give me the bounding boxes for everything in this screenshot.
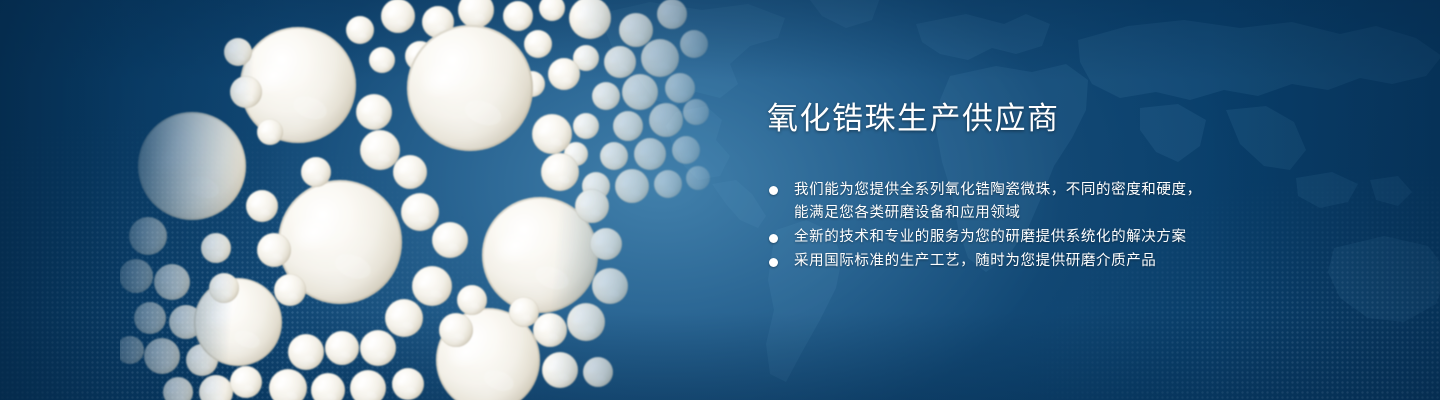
- list-item-line: 我们能为您提供全系列氧化锆陶瓷微珠，不同的密度和硬度，: [794, 179, 1367, 203]
- feature-list: 我们能为您提供全系列氧化锆陶瓷微珠，不同的密度和硬度， 能满足您各类研磨设备和应…: [767, 179, 1367, 274]
- list-item: 采用国际标准的生产工艺，随时为您提供研磨介质产品: [767, 250, 1367, 274]
- banner-copy: 氧化锆珠生产供应商 我们能为您提供全系列氧化锆陶瓷微珠，不同的密度和硬度， 能满…: [767, 100, 1367, 274]
- page-title: 氧化锆珠生产供应商: [767, 100, 1367, 139]
- list-item: 我们能为您提供全系列氧化锆陶瓷微珠，不同的密度和硬度， 能满足您各类研磨设备和应…: [767, 179, 1367, 226]
- list-item: 全新的技术和专业的服务为您的研磨提供系统化的解决方案: [767, 226, 1367, 250]
- list-item-line: 采用国际标准的生产工艺，随时为您提供研磨介质产品: [794, 250, 1367, 274]
- list-item-line: 全新的技术和专业的服务为您的研磨提供系统化的解决方案: [794, 226, 1367, 250]
- list-item-line: 能满足您各类研磨设备和应用领域: [794, 202, 1367, 226]
- hero-banner: 氧化锆珠生产供应商 我们能为您提供全系列氧化锆陶瓷微珠，不同的密度和硬度， 能满…: [0, 0, 1440, 400]
